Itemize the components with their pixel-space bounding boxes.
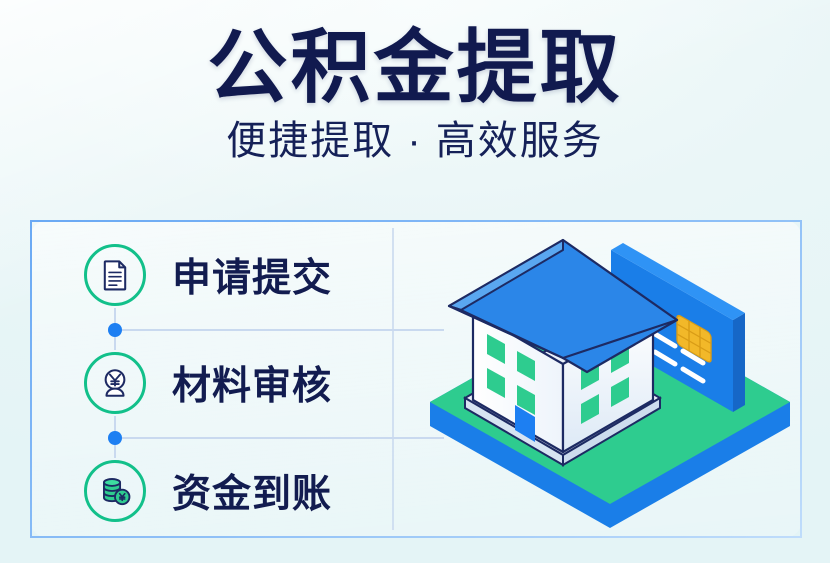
- connector-horizontal-line: [122, 329, 444, 331]
- page-subtitle: 便捷提取 · 高效服务: [0, 117, 830, 165]
- step-label: 材料审核: [172, 355, 332, 411]
- connector-dot: [108, 431, 122, 445]
- page-title: 公积金提取: [0, 0, 830, 111]
- step-label: 申请提交: [172, 247, 332, 303]
- step-connector-1: [84, 318, 394, 340]
- yen-review-icon: [84, 352, 146, 414]
- step-item-review[interactable]: 材料审核: [84, 340, 394, 426]
- step-item-application[interactable]: 申请提交: [84, 232, 394, 318]
- connector-horizontal-line: [122, 437, 444, 439]
- coin-stack-icon: [84, 460, 146, 522]
- connector-dot: [108, 323, 122, 337]
- document-icon: [84, 244, 146, 306]
- step-connector-2: [84, 426, 394, 448]
- step-list: 申请提交: [84, 232, 394, 534]
- step-item-funds-received[interactable]: 资金到账: [84, 448, 394, 534]
- step-label: 资金到账: [172, 463, 332, 519]
- poster-header: 公积金提取 便捷提取 · 高效服务: [0, 0, 830, 165]
- house-and-bank-card-isometric: [415, 230, 805, 530]
- poster-stage: 公积金提取 便捷提取 · 高效服务: [0, 0, 830, 563]
